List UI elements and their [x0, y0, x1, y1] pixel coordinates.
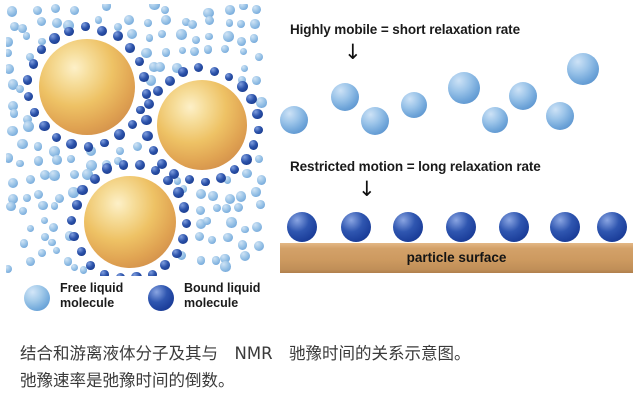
bound-liquid-molecule: [163, 176, 172, 185]
free-liquid-molecule: [176, 29, 187, 40]
bound-molecule-swatch-icon: [148, 285, 174, 311]
legend-label-line-2: molecule: [184, 296, 278, 311]
bound-liquid-molecule: [142, 131, 153, 142]
bound-liquid-molecule: [77, 247, 86, 256]
free-liquid-molecule: [205, 16, 214, 25]
free-liquid-molecule: [6, 202, 16, 212]
figure-page: Highly mobile = short relaxation rate ↓ …: [0, 0, 639, 406]
free-liquid-molecule: [149, 4, 159, 10]
bound-liquid-molecule-6: [550, 212, 580, 242]
bound-liquid-molecule-1: [287, 212, 317, 242]
bound-liquid-molecule: [81, 22, 90, 31]
free-liquid-molecule: [38, 201, 47, 210]
bound-liquid-molecule: [237, 81, 248, 92]
free-liquid-molecule: [250, 34, 258, 42]
free-liquid-molecule: [179, 47, 186, 54]
free-liquid-molecule: [51, 4, 60, 13]
free-liquid-molecule: [38, 249, 46, 257]
free-liquid-molecule: [41, 217, 48, 224]
free-liquid-molecule: [251, 187, 261, 197]
free-liquid-molecule: [51, 202, 59, 210]
free-liquid-molecule: [223, 233, 232, 242]
bound-liquid-molecule: [114, 129, 125, 140]
particle-surface-label: particle surface: [280, 250, 633, 265]
solid-particle-1: [39, 39, 135, 135]
free-liquid-molecule: [190, 47, 199, 56]
bound-liquid-molecule: [230, 165, 239, 174]
bound-liquid-molecule: [37, 45, 46, 54]
free-liquid-molecule: [196, 189, 206, 199]
bound-liquid-molecule: [69, 232, 78, 241]
bound-liquid-molecule: [151, 166, 160, 175]
legend-label-line-2: molecule: [60, 296, 154, 311]
bound-liquid-molecule: [24, 92, 33, 101]
free-liquid-molecule: [255, 53, 263, 61]
free-liquid-molecule: [48, 239, 56, 247]
free-liquid-molecule-1: [280, 106, 308, 134]
free-liquid-molecule: [257, 175, 266, 184]
bound-liquid-molecule: [182, 219, 191, 228]
free-liquid-molecule: [254, 241, 264, 251]
free-liquid-molecule: [146, 34, 154, 42]
free-liquid-molecule: [141, 48, 152, 59]
free-liquid-molecule: [38, 38, 46, 46]
free-liquid-molecule: [252, 76, 261, 85]
free-liquid-molecule: [162, 48, 171, 57]
free-liquid-molecule: [234, 203, 243, 212]
restricted-down-arrow-icon: ↓: [358, 179, 376, 200]
free-liquid-molecule: [237, 37, 246, 46]
free-liquid-molecule: [197, 256, 206, 265]
free-liquid-molecule: [23, 194, 31, 202]
bound-liquid-molecule: [194, 63, 203, 72]
free-liquid-molecule: [7, 126, 17, 136]
bound-liquid-molecule: [252, 109, 262, 119]
legend-label: Bound liquidmolecule: [184, 281, 278, 310]
bound-liquid-molecule: [135, 160, 145, 170]
free-liquid-molecule: [34, 190, 43, 199]
bound-liquid-molecule: [160, 260, 170, 270]
bound-liquid-molecule: [142, 89, 151, 98]
free-liquid-molecule: [10, 109, 19, 118]
bound-liquid-molecule-4: [446, 212, 476, 242]
free-liquid-molecule: [223, 31, 234, 42]
free-liquid-molecule-2: [331, 83, 359, 111]
free-liquid-molecule: [95, 16, 102, 23]
solid-particle-2: [157, 80, 247, 170]
bound-liquid-molecule: [72, 200, 81, 209]
free-liquid-molecule-4: [401, 92, 427, 118]
free-liquid-molecule: [27, 225, 34, 232]
bound-liquid-molecule: [86, 261, 95, 270]
bound-liquid-molecule: [128, 120, 137, 129]
bound-liquid-molecule: [84, 142, 94, 152]
bound-liquid-molecule: [100, 270, 108, 276]
caption-line-1: 结合和游离液体分子及其与 NMR 驰豫时间的关系示意图。: [20, 340, 620, 367]
bound-liquid-molecule: [97, 26, 107, 36]
free-liquid-molecule: [70, 170, 79, 179]
free-liquid-molecule: [49, 170, 59, 180]
free-liquid-molecule: [161, 6, 169, 14]
free-liquid-molecule: [155, 62, 165, 72]
free-liquid-molecule: [6, 37, 13, 47]
bound-liquid-molecule: [29, 59, 38, 68]
free-liquid-molecule: [52, 155, 62, 165]
free-liquid-molecule: [102, 4, 112, 11]
free-liquid-molecule: [8, 178, 18, 188]
free-liquid-molecule: [6, 153, 13, 163]
free-liquid-molecule: [208, 236, 216, 244]
bound-liquid-molecule: [241, 154, 251, 164]
bound-liquid-molecule: [173, 187, 183, 197]
free-liquid-molecule: [158, 30, 166, 38]
bound-liquid-molecule: [178, 67, 188, 77]
free-liquid-molecule: [196, 206, 205, 215]
free-liquid-molecule: [53, 247, 61, 255]
bound-liquid-molecule: [165, 76, 175, 86]
free-liquid-molecule: [242, 169, 251, 178]
free-liquid-molecule: [34, 142, 42, 150]
free-liquid-molecule: [37, 17, 46, 26]
free-liquid-molecule: [204, 45, 212, 53]
free-liquid-molecule: [26, 175, 35, 184]
free-liquid-molecule: [49, 223, 58, 232]
free-liquid-molecule: [252, 222, 262, 232]
free-liquid-molecule-7: [509, 82, 537, 110]
free-liquid-molecule: [252, 5, 261, 14]
free-liquid-molecule: [256, 97, 266, 107]
free-liquid-molecule: [205, 33, 213, 41]
bound-liquid-molecule: [64, 27, 73, 36]
mobile-heading: Highly mobile = short relaxation rate: [290, 22, 520, 37]
free-liquid-molecule: [238, 240, 247, 249]
bound-liquid-molecule: [39, 121, 50, 132]
bound-liquid-molecule: [125, 43, 135, 53]
bound-liquid-molecule: [148, 270, 158, 276]
bound-liquid-molecule: [113, 31, 123, 41]
bound-liquid-molecule: [77, 185, 88, 196]
free-liquid-molecule: [7, 6, 17, 16]
relaxation-panel: Highly mobile = short relaxation rate ↓ …: [272, 4, 634, 276]
bound-liquid-molecule: [249, 140, 259, 150]
free-liquid-molecule: [6, 49, 12, 57]
suspension-panel: [6, 4, 268, 276]
bound-liquid-molecule: [119, 160, 128, 169]
free-liquid-molecule: [33, 6, 42, 15]
free-liquid-molecule: [241, 226, 248, 233]
free-liquid-molecule: [26, 257, 35, 266]
free-liquid-molecule: [6, 265, 12, 273]
bound-liquid-molecule: [141, 115, 151, 125]
bound-liquid-molecule: [116, 273, 125, 276]
free-liquid-molecule: [236, 191, 246, 201]
bound-liquid-molecule-3: [393, 212, 423, 242]
free-liquid-molecule: [6, 64, 14, 74]
caption-line-2: 弛豫速率是弛豫时间的倒数。: [20, 367, 620, 394]
free-liquid-molecule-8: [546, 102, 574, 130]
nmr-relaxation-figure: Highly mobile = short relaxation rate ↓ …: [0, 0, 639, 330]
bound-liquid-molecule: [136, 106, 145, 115]
free-liquid-molecule: [23, 121, 34, 132]
legend-label-line-1: Free liquid: [60, 281, 154, 296]
free-liquid-molecule: [241, 65, 248, 72]
free-liquid-molecule: [256, 200, 265, 209]
bound-liquid-molecule: [23, 75, 32, 84]
free-liquid-molecule: [161, 15, 171, 25]
bound-liquid-molecule: [246, 94, 256, 104]
free-liquid-molecule: [226, 19, 234, 27]
free-liquid-molecule: [67, 155, 75, 163]
free-liquid-molecule: [239, 4, 248, 10]
bound-liquid-molecule: [149, 146, 158, 155]
free-liquid-molecule: [226, 217, 236, 227]
free-liquid-molecule: [20, 239, 28, 247]
free-liquid-molecule: [71, 264, 79, 272]
free-liquid-molecule: [255, 155, 263, 163]
free-liquid-molecule: [133, 142, 142, 151]
solid-particle-3: [84, 176, 176, 268]
bound-liquid-molecule-2: [341, 212, 371, 242]
bound-liquid-molecule: [52, 133, 61, 142]
free-liquid-molecule-3: [361, 107, 389, 135]
bound-liquid-molecule: [131, 272, 142, 276]
free-liquid-molecule: [19, 207, 27, 215]
free-liquid-molecule: [16, 85, 24, 93]
legend-label-line-1: Bound liquid: [184, 281, 278, 296]
free-liquid-molecule: [192, 36, 200, 44]
free-molecule-swatch-icon: [24, 285, 50, 311]
bound-liquid-molecule: [178, 234, 189, 245]
bound-liquid-molecule: [185, 175, 194, 184]
free-liquid-molecule: [222, 204, 231, 213]
bound-liquid-molecule-7: [597, 212, 627, 242]
bound-liquid-molecule: [144, 99, 154, 109]
free-liquid-molecule-5: [448, 72, 480, 104]
free-liquid-molecule: [225, 5, 235, 15]
free-liquid-molecule-9: [567, 53, 599, 85]
free-liquid-molecule: [213, 204, 221, 212]
free-liquid-molecule: [237, 20, 245, 28]
bound-liquid-molecule: [66, 139, 77, 150]
bound-liquid-molecule: [254, 126, 263, 135]
free-liquid-molecule: [16, 160, 24, 168]
free-liquid-molecule: [114, 23, 122, 31]
free-liquid-molecule: [240, 251, 250, 261]
free-liquid-molecule: [34, 156, 43, 165]
free-liquid-molecule: [124, 15, 134, 25]
bound-liquid-molecule: [30, 108, 38, 116]
free-liquid-molecule: [240, 48, 247, 55]
bound-liquid-molecule: [100, 139, 109, 148]
mobile-down-arrow-icon: ↓: [344, 42, 362, 63]
free-liquid-molecule: [220, 261, 231, 272]
free-liquid-molecule: [208, 191, 218, 201]
free-liquid-molecule: [144, 19, 152, 27]
bound-liquid-molecule: [102, 163, 112, 173]
free-liquid-molecule-6: [482, 107, 508, 133]
free-liquid-molecule: [225, 194, 235, 204]
bound-liquid-molecule: [179, 202, 190, 213]
free-liquid-molecule: [250, 19, 260, 29]
restricted-heading: Restricted motion = long relaxation rate: [290, 159, 541, 174]
free-liquid-molecule: [221, 45, 230, 54]
bound-liquid-molecule: [210, 67, 220, 77]
bound-liquid-molecule: [49, 33, 60, 44]
free-liquid-molecule: [70, 6, 79, 15]
free-liquid-molecule: [23, 32, 30, 39]
bound-liquid-molecule: [90, 174, 100, 184]
bound-liquid-molecule-5: [499, 212, 529, 242]
free-liquid-molecule: [203, 217, 210, 224]
free-liquid-molecule: [195, 232, 204, 241]
bound-liquid-molecule: [135, 57, 144, 66]
bound-liquid-molecule: [153, 86, 163, 96]
bound-liquid-molecule: [201, 178, 210, 187]
figure-caption: 结合和游离液体分子及其与 NMR 驰豫时间的关系示意图。 弛豫速率是弛豫时间的倒…: [20, 340, 620, 394]
free-liquid-molecule: [17, 139, 28, 150]
particle-surface-bar: particle surface: [280, 243, 633, 273]
bound-liquid-molecule: [67, 216, 77, 226]
free-liquid-molecule: [116, 147, 124, 155]
bound-liquid-molecule: [225, 73, 233, 81]
free-liquid-molecule: [188, 20, 197, 29]
free-liquid-molecule: [127, 29, 137, 39]
free-liquid-molecule: [52, 18, 62, 28]
free-liquid-molecule: [212, 256, 220, 264]
legend-label: Free liquidmolecule: [60, 281, 154, 310]
